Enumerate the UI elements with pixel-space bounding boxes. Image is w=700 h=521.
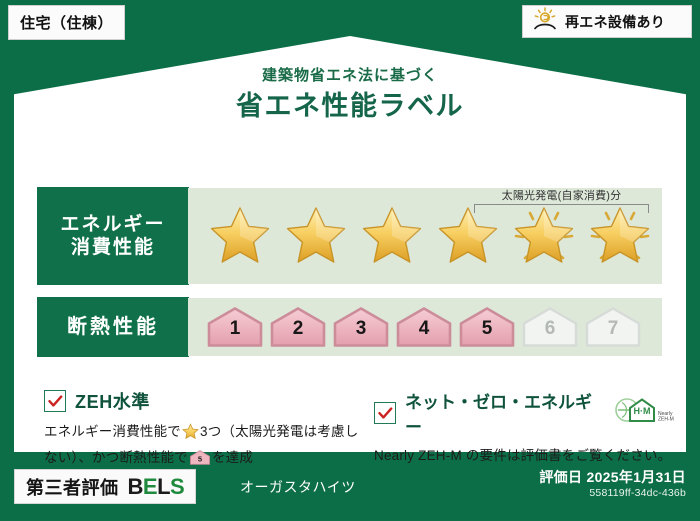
- grade-badge-2: 2: [269, 306, 327, 348]
- check-icon: [378, 407, 393, 420]
- grade-badge-4: 4: [395, 306, 453, 348]
- check-icon: [48, 395, 63, 408]
- grade-badge-3: 3: [332, 306, 390, 348]
- insulation-grade-track: 1234567: [188, 298, 662, 356]
- star-filled: [204, 200, 276, 272]
- grade-number: 6: [521, 319, 579, 338]
- grade-number: 3: [332, 319, 390, 338]
- star-filled: [280, 200, 352, 272]
- bels-letter-s: S: [170, 474, 184, 499]
- grade-scale: 1234567: [188, 298, 662, 356]
- svg-text:H·M: H·M: [634, 406, 651, 416]
- evaluation-date-value: 2025年1月31日: [586, 469, 686, 485]
- bels-letter-l: L: [157, 474, 170, 499]
- energy-row-label: エネルギー 消費性能: [38, 188, 188, 284]
- third-party-label: 第三者評価: [26, 474, 119, 500]
- title-subtitle: 建築物省エネ法に基づく: [14, 64, 686, 85]
- grade-number: 2: [269, 319, 327, 338]
- energy-row-label-line2: 消費性能: [71, 236, 155, 259]
- insulation-row-label-text: 断熱性能: [67, 315, 159, 339]
- insulation-performance-row: 断熱性能 1234567: [38, 298, 662, 356]
- grade-badge-5: 5: [458, 306, 516, 348]
- star-icon: [182, 423, 199, 447]
- zeh-body-part1: エネルギー消費性能で: [44, 424, 181, 439]
- insulation-row-label: 断熱性能: [38, 298, 188, 356]
- svg-text:ZEH-M: ZEH-M: [658, 416, 674, 422]
- net-zero-title: ネット・ゼロ・エネルギー: [405, 388, 599, 438]
- energy-performance-label: 住宅（住棟） 再エネ設備あり 建築物省エネ法に基づく 省エネ性能ラベル: [0, 0, 700, 521]
- net-zero-energy-block: ネット・ゼロ・エネルギー H·M Nearly ZEH-M Nearly ZEH…: [374, 388, 674, 467]
- bels-letter-b: B: [128, 474, 143, 499]
- document-type-tag: 住宅（住棟）: [8, 5, 125, 40]
- building-name: オーガスタハイツ: [240, 469, 356, 504]
- evaluation-date-label: 評価日: [539, 469, 582, 485]
- energy-star-track: 太陽光発電(自家消費)分: [188, 188, 662, 284]
- grade-number: 7: [584, 319, 642, 338]
- renewable-badge-label: 再エネ設備あり: [565, 12, 665, 32]
- grade-badge-1: 1: [206, 306, 264, 348]
- bels-wordmark: BELS: [128, 474, 185, 500]
- energy-row-label-line1: エネルギー: [60, 213, 165, 236]
- evaluation-id: 558119ff-34dc-436b: [589, 487, 686, 499]
- grade-badge-7: 7: [584, 306, 642, 348]
- grade-number: 4: [395, 319, 453, 338]
- document-type-label: 住宅（住棟）: [20, 12, 113, 33]
- solar-sun-icon: [532, 7, 558, 36]
- zeh-standard-checkbox[interactable]: [44, 390, 66, 412]
- bels-letter-e: E: [143, 474, 157, 499]
- bels-certification-box: 第三者評価 BELS: [14, 469, 196, 504]
- grade-badge-6: 6: [521, 306, 579, 348]
- nearly-zeh-m-logo: H·M Nearly ZEH-M: [614, 397, 674, 430]
- net-zero-header: ネット・ゼロ・エネルギー H·M Nearly ZEH-M: [374, 388, 674, 438]
- zeh-standard-header: ZEH水準: [44, 388, 364, 414]
- star-filled: [356, 200, 428, 272]
- footer-bar: 第三者評価 BELS オーガスタハイツ 評価日 2025年1月31日 55811…: [0, 461, 700, 521]
- panel-content: 建築物省エネ法に基づく 省エネ性能ラベル エネルギー 消費性能 太陽光発電(自家…: [14, 36, 686, 452]
- zeh-standard-title: ZEH水準: [75, 388, 150, 414]
- page-title: 省エネ性能ラベル: [14, 84, 686, 123]
- grade-number: 1: [206, 319, 264, 338]
- bracket-line: [474, 204, 649, 213]
- solar-note-label: 太陽光発電(自家消費)分: [474, 190, 649, 203]
- solar-note-bracket: 太陽光発電(自家消費)分: [474, 190, 649, 216]
- energy-performance-row: エネルギー 消費性能 太陽光発電(自家消費)分: [38, 188, 662, 284]
- net-zero-checkbox[interactable]: [374, 402, 396, 424]
- evaluation-date: 評価日 2025年1月31日: [539, 467, 686, 487]
- grade-number: 5: [458, 319, 516, 338]
- renewable-energy-badge: 再エネ設備あり: [522, 5, 692, 38]
